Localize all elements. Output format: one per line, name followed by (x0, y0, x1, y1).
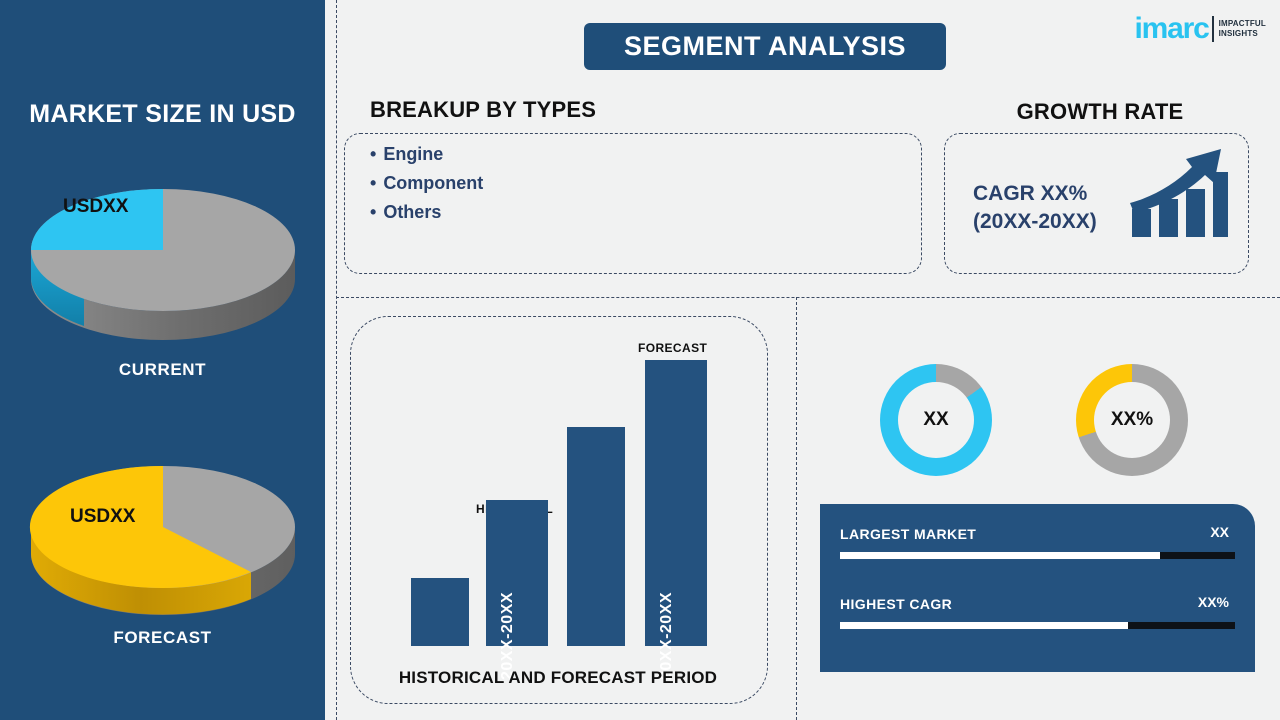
bar-1 (411, 578, 469, 646)
vertical-divider (796, 297, 797, 720)
stat-1-fill (840, 552, 1160, 559)
sidebar-title: MARKET SIZE IN USD (0, 100, 325, 129)
growth-rate-text: CAGR XX% (20XX-20XX) (973, 180, 1097, 236)
stat-2-track (840, 622, 1235, 629)
stat-2-head: HIGHEST CAGR XX% (840, 596, 1235, 618)
stat-1-track (840, 552, 1235, 559)
donut-1-value: XX (923, 409, 948, 431)
pie-chart-forecast (22, 432, 304, 622)
page-title: SEGMENT ANALYSIS (624, 31, 906, 62)
stats-panel: LARGEST MARKET XX HIGHEST CAGR XX% (820, 504, 1255, 672)
stat-row-highest-cagr: HIGHEST CAGR XX% (840, 596, 1235, 629)
donut-1-hole: XX (898, 382, 974, 458)
logo-tagline: IMPACTFUL INSIGHTS (1219, 19, 1266, 39)
pie-forecast-caption: FORECAST (0, 628, 325, 648)
breakup-list: Engine Component Others (370, 140, 483, 227)
bar-2: 20XX-20XX (486, 500, 548, 646)
logo-divider-icon (1212, 16, 1214, 42)
stat-2-fill (840, 622, 1128, 629)
growth-heading: GROWTH RATE (945, 99, 1255, 125)
bar-2-period-label: 20XX-20XX (499, 592, 517, 680)
pie-current-svg (22, 155, 304, 345)
imarc-logo: imarc IMPACTFUL INSIGHTS (1135, 12, 1266, 46)
bar-chart: HISTORICAL 20XX-20XX FORECAST 20XX-20XX … (350, 316, 766, 702)
horizontal-divider (336, 297, 1280, 298)
pie-forecast-svg (22, 432, 304, 622)
bar-4-period-label: 20XX-20XX (658, 592, 676, 680)
logo-wordmark: imarc (1135, 14, 1209, 44)
growth-cagr-line: CAGR XX% (973, 180, 1097, 208)
donut-2-value: XX% (1111, 409, 1153, 431)
logo-tagline-line1: IMPACTFUL (1219, 19, 1266, 28)
stat-1-label: LARGEST MARKET (840, 526, 976, 542)
growth-period-line: (20XX-20XX) (973, 208, 1097, 236)
donut-2-hole: XX% (1094, 382, 1170, 458)
stat-row-largest-market: LARGEST MARKET XX (840, 526, 1235, 559)
donut-chart-2: XX% (1076, 364, 1188, 476)
bar-4-top-label: FORECAST (638, 341, 707, 355)
infographic-canvas: MARKET SIZE IN USD US (0, 0, 1280, 720)
barchart-caption: HISTORICAL AND FORECAST PERIOD (350, 668, 766, 688)
stat-2-label: HIGHEST CAGR (840, 596, 952, 612)
breakup-heading: BREAKUP BY TYPES (370, 97, 596, 123)
logo-tagline-line2: INSIGHTS (1219, 29, 1258, 38)
page-title-band: SEGMENT ANALYSIS (584, 23, 946, 70)
growth-arrow-icon (1126, 145, 1230, 246)
stat-1-head: LARGEST MARKET XX (840, 526, 1235, 548)
pie-current-caption: CURRENT (0, 360, 325, 380)
list-item: Others (370, 198, 483, 227)
list-item: Component (370, 169, 483, 198)
pie-chart-current (22, 155, 304, 345)
sidebar-divider (336, 0, 337, 720)
bar-4: 20XX-20XX (645, 360, 707, 646)
donut-chart-1: XX (880, 364, 992, 476)
bar-3 (567, 427, 625, 646)
stat-1-value: XX (1210, 524, 1229, 540)
list-item: Engine (370, 140, 483, 169)
stat-2-value: XX% (1198, 594, 1229, 610)
